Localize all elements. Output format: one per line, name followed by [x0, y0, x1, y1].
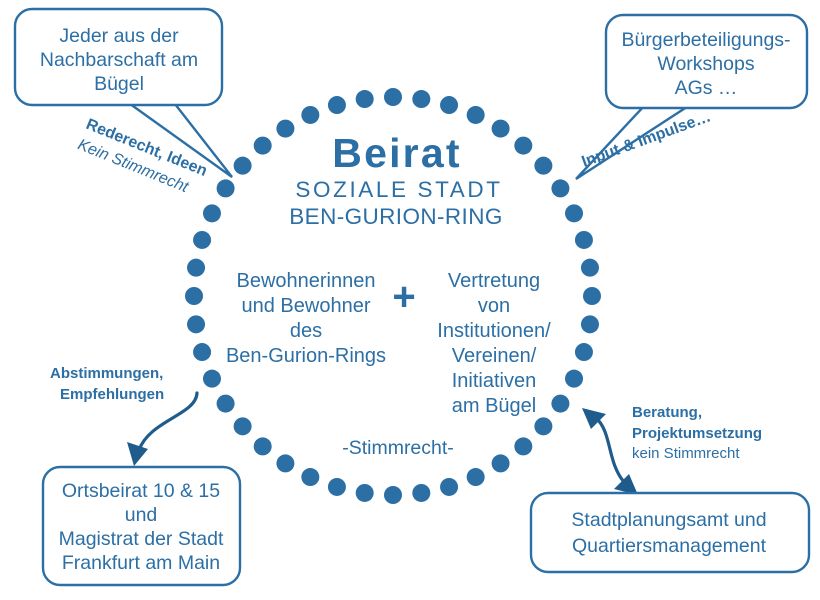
member-group-right-line-3: Institutionen/: [437, 320, 551, 342]
box-bottom-left-line-2: und: [125, 504, 158, 526]
box-bottom-left-line-1: Ortsbeirat 10 & 15: [62, 480, 220, 502]
member-group-left-line-3: des: [290, 320, 322, 342]
annotation-top-right-line-1: Input & Impulse…: [580, 108, 714, 170]
voting-rights-label: -Stimmrecht-: [342, 437, 454, 459]
bubble-top-left-line-2: Nachbarschaft am: [40, 49, 198, 71]
member-group-left-line-2: und Bewohner: [242, 295, 371, 317]
text-layer: Jeder aus der Nachbarschaft am Bügel Bür…: [0, 0, 820, 600]
bubble-top-left-line-3: Bügel: [94, 73, 144, 95]
member-group-right-line-2: von: [478, 295, 510, 317]
box-bottom-left-line-4: Frankfurt am Main: [62, 552, 220, 574]
member-group-right-line-6: am Bügel: [452, 395, 537, 417]
member-group-left-line-4: Ben-Gurion-Rings: [226, 345, 386, 367]
plus-separator: +: [392, 275, 415, 319]
box-bottom-right-line-1: Stadtplanungsamt und: [571, 509, 766, 531]
subtitle-ben-gurion-ring: BEN-GURION-RING: [289, 204, 503, 229]
box-bottom-right-line-2: Quartiersmanagement: [572, 535, 767, 557]
annotation-bottom-right-line-1: Beratung,: [632, 404, 702, 421]
bubble-top-left-line-1: Jeder aus der: [59, 25, 179, 47]
annotation-bottom-left-line-1: Abstimmungen,: [50, 365, 163, 382]
member-group-left-line-1: Bewohnerinnen: [237, 270, 376, 292]
member-group-right-line-5: Initiativen: [452, 370, 537, 392]
member-group-right-line-4: Vereinen/: [452, 345, 537, 367]
annotation-bottom-left-line-2: Empfehlungen: [60, 386, 164, 403]
annotation-bottom-right-line-3: kein Stimmrecht: [632, 445, 740, 462]
page-title: Beirat: [332, 130, 461, 176]
annotation-bottom-right-line-2: Projektumsetzung: [632, 425, 762, 442]
subtitle-soziale-stadt: SOZIALE STADT: [295, 177, 502, 202]
bubble-top-right-line-3: AGs …: [675, 77, 738, 99]
bubble-top-right-line-1: Bürgerbeteiligungs-: [621, 29, 790, 51]
member-group-right-line-1: Vertretung: [448, 270, 540, 292]
bubble-top-right-line-2: Workshops: [657, 53, 754, 75]
box-bottom-left-line-3: Magistrat der Stadt: [59, 528, 224, 550]
diagram-canvas: Jeder aus der Nachbarschaft am Bügel Bür…: [0, 0, 820, 600]
